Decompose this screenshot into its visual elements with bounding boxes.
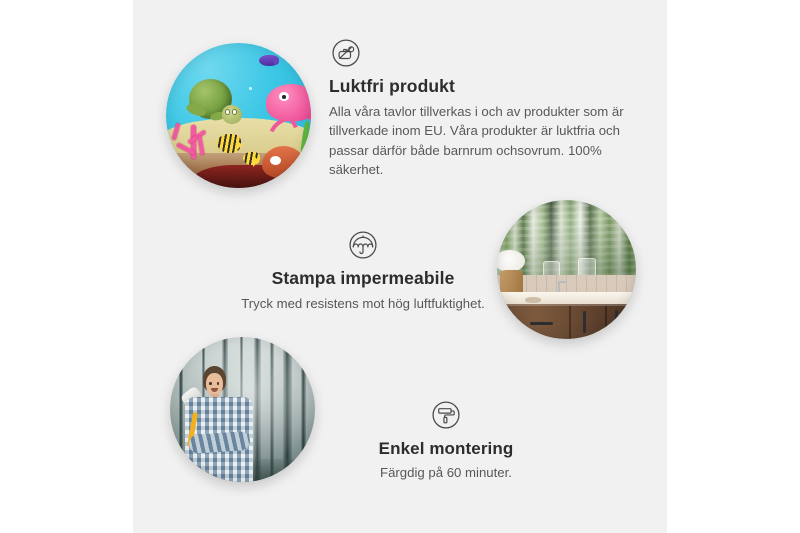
drawer-handle bbox=[530, 322, 552, 325]
feature-image-underwater-kids-artwork bbox=[166, 43, 311, 188]
screenshot-root: Luktfri produkt Alla våra tavlor tillver… bbox=[0, 0, 800, 533]
coral-branch bbox=[197, 135, 205, 155]
coral-icon bbox=[172, 116, 216, 160]
crab-icon bbox=[262, 146, 306, 178]
coral-branch bbox=[171, 123, 180, 141]
blue-fish-icon bbox=[259, 55, 279, 67]
octopus-eye bbox=[279, 92, 289, 101]
turtle-head bbox=[222, 105, 242, 124]
cabinet-seam bbox=[605, 306, 607, 339]
yellow-fish-icon bbox=[243, 152, 260, 165]
feature-assembly-description: Färgdig på 60 minuter. bbox=[325, 463, 567, 483]
bubble-icon bbox=[249, 87, 252, 90]
painter-person bbox=[179, 366, 263, 482]
underwater-scene bbox=[166, 43, 311, 188]
cabinet-seam bbox=[569, 306, 571, 339]
feature-assembly: Enkel montering Färgdig på 60 minuter. bbox=[325, 398, 567, 483]
content-panel: Luktfri produkt Alla våra tavlor tillver… bbox=[133, 0, 667, 533]
umbrella-icon bbox=[346, 228, 380, 262]
soap-dish bbox=[525, 297, 542, 303]
feature-assembly-title: Enkel montering bbox=[325, 438, 567, 459]
feature-odourless-description: Alla våra tavlor tillverkas i och av pro… bbox=[329, 102, 625, 180]
painter-eye bbox=[209, 382, 212, 385]
octopus-head bbox=[266, 84, 311, 121]
feature-image-painter-in-forest bbox=[170, 337, 315, 482]
painter-eye bbox=[217, 382, 220, 385]
door-handle bbox=[615, 310, 618, 332]
forest-scene bbox=[170, 337, 315, 482]
feature-odourless: Luktfri produkt Alla våra tavlor tillver… bbox=[329, 36, 625, 180]
feature-waterproof-title: Stampa impermeabile bbox=[203, 268, 523, 290]
door-handle bbox=[583, 311, 586, 333]
feature-odourless-icon-wrap bbox=[329, 36, 625, 70]
feature-odourless-title: Luktfri produkt bbox=[329, 76, 625, 98]
feature-waterproof: Stampa impermeabile Tryck med resistens … bbox=[203, 228, 523, 313]
no-fragrance-icon bbox=[329, 36, 363, 70]
feature-waterproof-description: Tryck med resistens mot hög luftfuktighe… bbox=[203, 294, 523, 314]
painter-face bbox=[206, 373, 224, 396]
feature-assembly-icon-wrap bbox=[325, 398, 567, 432]
feature-waterproof-icon-wrap bbox=[203, 228, 523, 262]
yellow-fish-icon bbox=[217, 134, 242, 153]
paint-roller-icon bbox=[429, 398, 463, 432]
